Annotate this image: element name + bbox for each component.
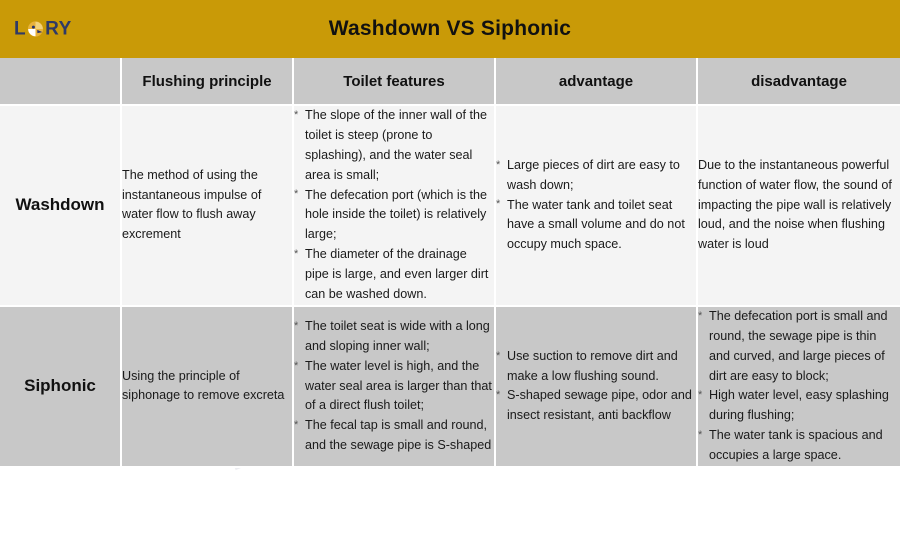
list-item: Use suction to remove dirt and make a lo… [496, 347, 696, 387]
comparison-table-page: L RY Washdown VS Siphonic LORY LORY [0, 0, 900, 547]
cell-siphonic-advantage: Use suction to remove dirt and make a lo… [496, 307, 698, 468]
list-item: High water level, easy splashing during … [698, 386, 900, 426]
list-item: The water level is high, and the water s… [294, 357, 494, 417]
column-header-advantage: advantage [496, 58, 698, 106]
list-item: The defecation port is small and round, … [698, 307, 900, 387]
table-row: Siphonic Using the principle of siphonag… [0, 307, 900, 468]
cell-siphonic-disadvantage: The defecation port is small and round, … [698, 307, 900, 468]
column-header-flushing-principle: Flushing principle [122, 58, 294, 106]
cell-paragraph: Using the principle of siphonage to remo… [122, 367, 292, 407]
bullet-list: The slope of the inner wall of the toile… [294, 106, 494, 305]
logo-text-before: L [14, 20, 26, 39]
table-row: Washdown The method of using the instant… [0, 106, 900, 307]
list-item: The water tank is spacious and occupies … [698, 426, 900, 466]
cell-paragraph: The method of using the instantaneous im… [122, 166, 292, 246]
table-header-row: Flushing principle Toilet features advan… [0, 58, 900, 106]
row-label-siphonic: Siphonic [0, 307, 122, 468]
list-item: The water tank and toilet seat have a sm… [496, 196, 696, 256]
bullet-list: The defecation port is small and round, … [698, 307, 900, 466]
cell-washdown-advantage: Large pieces of dirt are easy to wash do… [496, 106, 698, 307]
list-item: The slope of the inner wall of the toile… [294, 106, 494, 186]
bullet-list: Large pieces of dirt are easy to wash do… [496, 156, 696, 255]
cell-washdown-disadvantage: Due to the instantaneous powerful functi… [698, 106, 900, 307]
cell-siphonic-flushing-principle: Using the principle of siphonage to remo… [122, 307, 294, 468]
logo-text-after: RY [45, 20, 72, 39]
list-item: The toilet seat is wide with a long and … [294, 317, 494, 357]
cell-siphonic-toilet-features: The toilet seat is wide with a long and … [294, 307, 496, 468]
cell-washdown-toilet-features: The slope of the inner wall of the toile… [294, 106, 496, 307]
page-title: Washdown VS Siphonic [329, 17, 571, 41]
column-header-disadvantage: disadvantage [698, 58, 900, 106]
page-header: L RY Washdown VS Siphonic [0, 0, 900, 58]
list-item: The fecal tap is small and round, and th… [294, 416, 494, 456]
cell-washdown-flushing-principle: The method of using the instantaneous im… [122, 106, 294, 307]
bottom-strip [0, 541, 900, 547]
bullet-list: The toilet seat is wide with a long and … [294, 317, 494, 456]
lory-bird-icon [27, 21, 44, 38]
list-item: The diameter of the drainage pipe is lar… [294, 245, 494, 305]
column-header-toilet-features: Toilet features [294, 58, 496, 106]
list-item: The defecation port (which is the hole i… [294, 186, 494, 246]
list-item: Large pieces of dirt are easy to wash do… [496, 156, 696, 196]
brand-logo[interactable]: L RY [14, 20, 72, 39]
comparison-table: Flushing principle Toilet features advan… [0, 58, 900, 468]
cell-paragraph: Due to the instantaneous powerful functi… [698, 156, 900, 255]
row-label-washdown: Washdown [0, 106, 122, 307]
table-corner-cell [0, 58, 122, 106]
list-item: S-shaped sewage pipe, odor and insect re… [496, 386, 696, 426]
bullet-list: Use suction to remove dirt and make a lo… [496, 347, 696, 427]
